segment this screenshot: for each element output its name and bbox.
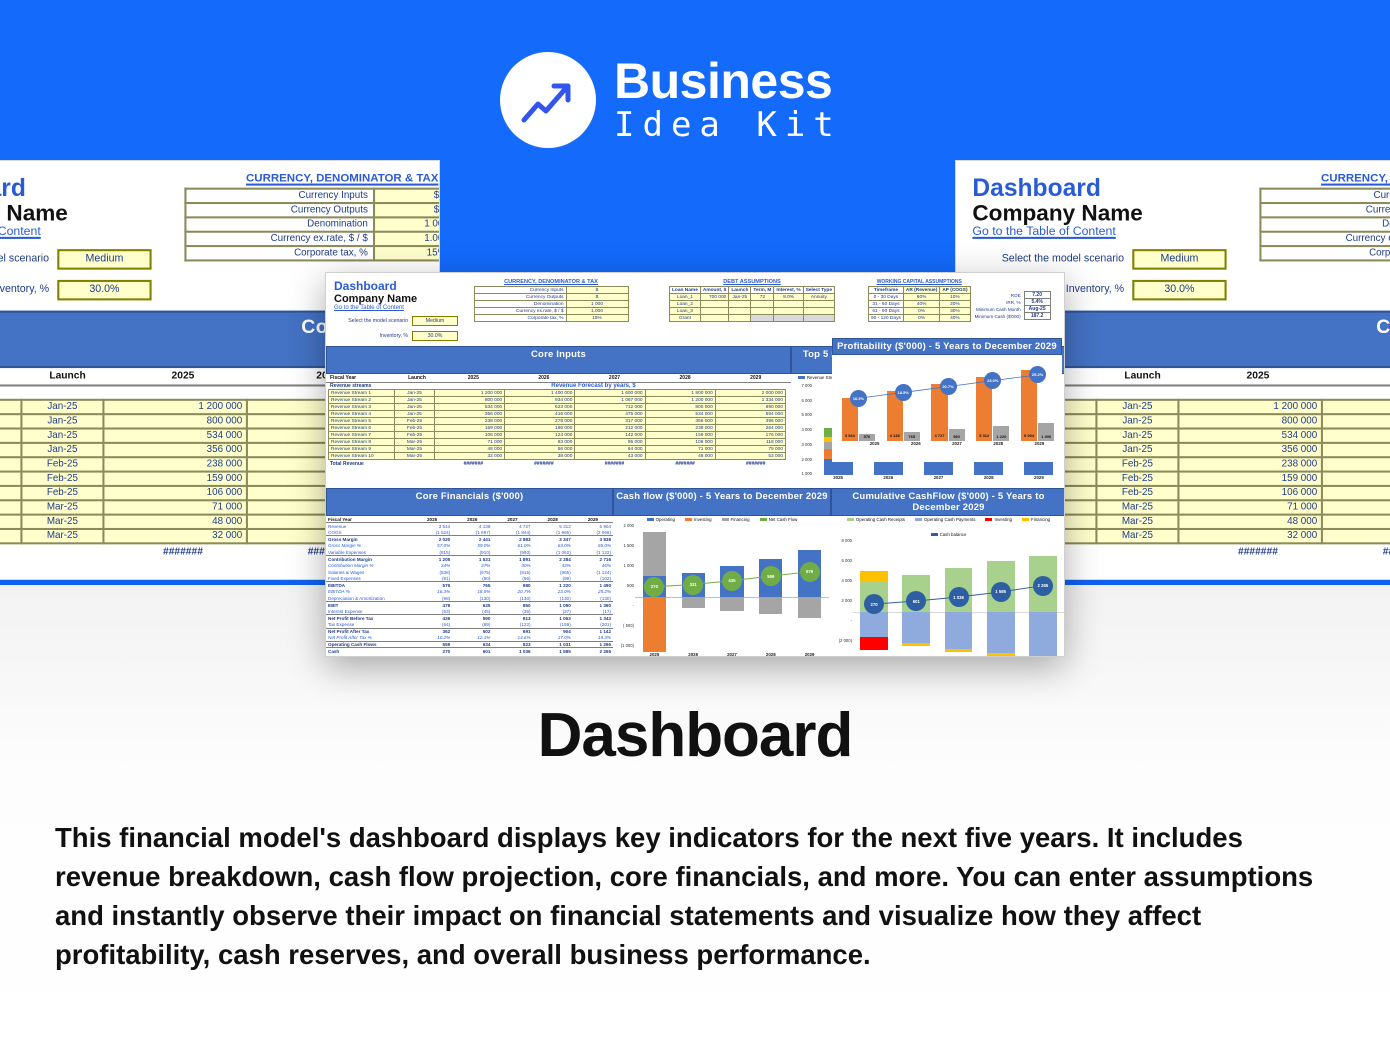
stream-name[interactable]: Revenue Stream 1: [329, 390, 395, 397]
stream-value[interactable]: 176 000: [715, 432, 785, 439]
cell[interactable]: [729, 301, 751, 308]
stream-launch[interactable]: Feb-25: [1096, 472, 1178, 486]
column-header: Timeframe: [869, 287, 904, 294]
cell[interactable]: [700, 308, 728, 315]
stream-name[interactable]: Revenue Stream 1: [0, 400, 21, 414]
revenue-forecast-table: Revenue Stream 1Jan-251 200 0001 400 000…: [328, 389, 786, 460]
cell-value[interactable]: 15%: [566, 315, 628, 322]
cell-label: Currency Outputs: [474, 294, 566, 301]
stream-value[interactable]: 1 334 000: [715, 397, 785, 404]
stream-launch[interactable]: Feb-25: [395, 425, 435, 432]
currency-panel-table: Currency Inputs$Currency Outputs$Denomin…: [183, 188, 440, 262]
table-row: Currency Outputs$: [474, 294, 628, 301]
inventory-label: Inventory, %: [334, 333, 408, 339]
stream-value[interactable]: 83 000: [505, 439, 575, 446]
stream-value[interactable]: 317 000: [575, 418, 645, 425]
stream-value[interactable]: 800 000: [1178, 414, 1322, 428]
scenario-select[interactable]: Medium: [412, 316, 458, 326]
cell-value[interactable]: 1 000: [566, 301, 628, 308]
cell[interactable]: Loan_3: [670, 308, 701, 315]
stream-launch[interactable]: Mar-25: [1096, 500, 1178, 514]
stream-launch[interactable]: Mar-25: [1096, 529, 1178, 543]
revenue-forecast-title: Revenue Forecast by years, $: [396, 383, 791, 389]
table-row: Net Profit After Tax %10.2%12.1%14.6%17.…: [326, 635, 613, 642]
stream-launch[interactable]: Jan-25: [395, 404, 435, 411]
stream-value[interactable]: 38 000: [505, 453, 575, 460]
cell-value[interactable]: 15%: [373, 246, 440, 260]
table-row: Grant: [670, 315, 835, 322]
stream-value[interactable]: 32 000: [435, 453, 505, 460]
wc-panel-table: TimeframeAR (Revenue)AP (COGS) 0 - 30 Da…: [868, 286, 971, 322]
cell[interactable]: 30%: [940, 308, 970, 315]
stream-launch[interactable]: Mar-25: [395, 453, 435, 460]
stream-name[interactable]: Revenue Stream 2: [0, 414, 21, 428]
currency-panel-title: CURRENCY, DENOMINATOR & TAX: [1243, 173, 1390, 185]
stream-name[interactable]: Revenue Stream 10: [329, 453, 395, 460]
cell[interactable]: 0 - 30 Days: [869, 294, 904, 301]
kpi-row: Minimum Cash MonthAug-25: [975, 306, 1051, 313]
page-title: Dashboard: [0, 700, 1390, 771]
row-value: 1 490: [573, 582, 613, 589]
y-tick: 1 000: [802, 471, 812, 476]
stream-name[interactable]: Revenue Stream 3: [329, 404, 395, 411]
row-value: (130): [573, 595, 613, 602]
stream-name[interactable]: Revenue Stream 7: [0, 486, 21, 500]
stream-launch[interactable]: Mar-25: [1096, 515, 1178, 529]
kpi-label: Minimum Cash Month: [975, 306, 1025, 313]
net-cash-flow-bubble: 559: [761, 566, 781, 586]
row-label: Operating Cash Flows: [326, 641, 412, 648]
stream-name[interactable]: Revenue Stream 9: [0, 515, 21, 529]
stream-launch[interactable]: Feb-25: [1096, 457, 1178, 471]
cell-label: Denomination: [1259, 217, 1390, 231]
row-value: (130): [533, 595, 573, 602]
stream-value[interactable]: 623 000: [1322, 429, 1390, 443]
stream-value[interactable]: 1 400 000: [505, 390, 575, 397]
x-tick: 2025: [813, 475, 863, 486]
stream-value[interactable]: 934 000: [505, 397, 575, 404]
cash-balance-bubble: 2 265: [1033, 576, 1053, 596]
cell[interactable]: 0%: [903, 315, 939, 322]
stream-name[interactable]: Revenue Stream 6: [0, 472, 21, 486]
stream-value[interactable]: 1 200 000: [103, 400, 247, 414]
stream-launch[interactable]: Feb-25: [21, 486, 103, 500]
total-value: #######: [1330, 546, 1390, 558]
stream-value[interactable]: 534 000: [1178, 429, 1322, 443]
table-row: Currency Inputs$: [1259, 189, 1390, 203]
row-value: 2 716: [573, 556, 613, 563]
stream-value[interactable]: 48 000: [435, 446, 505, 453]
stream-value[interactable]: 475 000: [575, 411, 645, 418]
x-axis: 20252026202720282029: [813, 475, 1064, 486]
kpi-value: 5.4%: [1024, 299, 1050, 306]
cell[interactable]: 700 000: [700, 294, 728, 301]
stream-launch[interactable]: Jan-25: [1096, 443, 1178, 457]
table-row: Revenue Stream 2Jan-25800 000934 0001 06…: [329, 397, 786, 404]
x-tick: 2027: [913, 475, 963, 486]
column-header: AR (Revenue): [903, 287, 939, 294]
stream-value[interactable]: 1 200 000: [645, 397, 715, 404]
stream-value[interactable]: 212 000: [575, 425, 645, 432]
stream-launch[interactable]: Jan-25: [395, 390, 435, 397]
stream-value[interactable]: 800 000: [103, 414, 247, 428]
stream-value[interactable]: 356 000: [103, 443, 247, 457]
stream-value[interactable]: 534 000: [103, 429, 247, 443]
x-tick: 2026: [895, 441, 936, 452]
brand-logo: Business Idea Kit: [500, 52, 842, 148]
row-value: 904: [533, 628, 573, 635]
stream-launch[interactable]: Feb-25: [1096, 486, 1178, 500]
legend-item: Financing: [722, 517, 750, 522]
legend-item: Operating Cash Payments: [915, 517, 976, 522]
row-value: 34%: [412, 562, 452, 569]
stream-launch[interactable]: Jan-25: [21, 414, 103, 428]
stream-value[interactable]: 71 000: [103, 500, 247, 514]
stream-value[interactable]: 83 000: [1322, 500, 1390, 514]
scenario-select[interactable]: Medium: [1132, 249, 1226, 270]
cell[interactable]: [700, 315, 728, 322]
row-value: (965): [533, 569, 573, 576]
stream-value[interactable]: 106 000: [645, 439, 715, 446]
row-value: 1 585: [533, 648, 573, 655]
cell-label: Corporate tax, %: [1259, 246, 1390, 260]
y-tick: -: [633, 603, 634, 608]
table-row: EBIT4786358501 0901 360: [326, 602, 613, 609]
stream-name[interactable]: Revenue Stream 10: [0, 529, 21, 543]
row-label: Revenue: [326, 523, 412, 530]
stream-value[interactable]: 1 800 000: [645, 390, 715, 397]
cell[interactable]: [774, 308, 803, 315]
table-row: Variable Expenses(815)(910)(993)(1 062)(…: [326, 549, 613, 556]
stream-launch[interactable]: Jan-25: [395, 411, 435, 418]
row-value: 478: [412, 602, 452, 609]
stream-value[interactable]: 238 000: [103, 457, 247, 471]
cell[interactable]: Loan_2: [670, 301, 701, 308]
stream-value[interactable]: 356 000: [645, 418, 715, 425]
stream-value[interactable]: 53 000: [715, 453, 785, 460]
stream-launch[interactable]: Jan-25: [395, 397, 435, 404]
row-value: (27): [533, 608, 573, 615]
legend-item: Investing: [985, 517, 1012, 522]
cell[interactable]: Loan_1: [670, 294, 701, 301]
cell[interactable]: 40%: [940, 315, 970, 322]
stream-name[interactable]: Revenue Stream 8: [329, 439, 395, 446]
stream-launch[interactable]: Mar-25: [21, 500, 103, 514]
inventory-label: Inventory, %: [0, 284, 49, 296]
cell-value[interactable]: $: [373, 189, 440, 203]
stream-value[interactable]: 32 000: [1178, 529, 1322, 543]
table-row: Revenue Stream 9Mar-2548 00056 00064 000…: [329, 446, 786, 453]
cell[interactable]: 31 - 60 Days: [869, 301, 904, 308]
stream-launch[interactable]: Feb-25: [21, 457, 103, 471]
stream-value[interactable]: 712 000: [575, 404, 645, 411]
row-value: (159): [533, 622, 573, 629]
inventory-input[interactable]: 30.0%: [57, 280, 151, 301]
row-value: 46%: [573, 562, 613, 569]
cell[interactable]: Grant: [670, 315, 701, 322]
cell-label: Currency Inputs: [1259, 189, 1390, 203]
row-value: 1 142: [573, 628, 613, 635]
cell-value[interactable]: 1.000: [373, 232, 440, 246]
dashboard-heading: Dashboard: [0, 173, 152, 202]
row-value: (91): [412, 575, 452, 582]
table-of-content-link[interactable]: Go to the Table of Content: [0, 227, 152, 239]
stream-value[interactable]: 890 000: [715, 404, 785, 411]
cell-value[interactable]: $: [373, 203, 440, 217]
stream-value[interactable]: 159 000: [435, 425, 505, 432]
row-value: (815): [412, 549, 452, 556]
stream-value[interactable]: 159 000: [103, 472, 247, 486]
stream-value[interactable]: 356 000: [435, 411, 505, 418]
stream-value[interactable]: 1 200 000: [1178, 400, 1322, 414]
cell[interactable]: [751, 308, 774, 315]
cell[interactable]: 60%: [903, 294, 939, 301]
total-value: #######: [720, 461, 791, 467]
table-row: EBITDA %16.3%18.5%20.7%23.0%25.2%: [326, 589, 613, 596]
cell[interactable]: 90 - 120 Days: [869, 315, 904, 322]
stream-name[interactable]: Revenue Stream 5: [0, 457, 21, 471]
stream-value[interactable]: 71 000: [645, 446, 715, 453]
cell-value[interactable]: $: [566, 287, 628, 294]
stream-name[interactable]: Revenue Stream 5: [329, 418, 395, 425]
table-row: Denomination1 000: [1259, 217, 1390, 231]
stream-value[interactable]: 43 000: [575, 453, 645, 460]
table-of-content-link[interactable]: Go to the Table of Content: [972, 227, 1226, 239]
cell[interactable]: [803, 308, 834, 315]
row-value: 850: [492, 602, 532, 609]
inventory-input[interactable]: 30.0%: [412, 331, 458, 341]
stream-value[interactable]: 124 000: [505, 432, 575, 439]
stream-launch[interactable]: Mar-25: [395, 439, 435, 446]
stream-value[interactable]: 238 000: [1178, 457, 1322, 471]
row-label: Contribution Margin %: [326, 562, 412, 569]
row-value: 5 904: [573, 523, 613, 530]
table-row: 0 - 30 Days60%10%: [869, 294, 971, 301]
cell-value[interactable]: 1 000: [373, 217, 440, 231]
stream-value[interactable]: 71 000: [1178, 500, 1322, 514]
cell[interactable]: 10%: [940, 294, 970, 301]
stream-name[interactable]: Revenue Stream 8: [0, 500, 21, 514]
stream-value[interactable]: 56 000: [1322, 515, 1390, 529]
stream-value[interactable]: 124 000: [1322, 486, 1390, 500]
stream-name[interactable]: Revenue Stream 4: [0, 443, 21, 457]
cell[interactable]: 20%: [940, 301, 970, 308]
row-value: (1 844): [492, 529, 532, 536]
row-value: 362: [412, 628, 452, 635]
ebitda-pct-bubble: 18.5%: [895, 384, 912, 401]
stream-value[interactable]: 238 000: [435, 418, 505, 425]
stream-value[interactable]: 2 000 000: [715, 390, 785, 397]
row-value: (90): [452, 575, 492, 582]
stream-value[interactable]: 48 000: [645, 453, 715, 460]
stream-value[interactable]: 594 000: [715, 411, 785, 418]
stream-value[interactable]: 106 000: [1178, 486, 1322, 500]
y-tick: 6 000: [842, 558, 852, 563]
table-row: Revenue Stream 8Mar-2571 00083 00095 000…: [329, 439, 786, 446]
table-row: Revenue Stream 10Mar-2532 00038 00043 00…: [329, 453, 786, 460]
profitability-chart-title: Profitability ($'000) - 5 Years to Decem…: [832, 338, 1062, 355]
stream-name[interactable]: Revenue Stream 7: [329, 432, 395, 439]
stream-name[interactable]: Revenue Stream 2: [329, 397, 395, 404]
stream-value[interactable]: 142 000: [575, 432, 645, 439]
cashflow-chart-title: Cash flow ($'000) - 5 Years to December …: [613, 488, 831, 516]
stream-value[interactable]: 1 600 000: [575, 390, 645, 397]
cell[interactable]: 72: [751, 294, 774, 301]
year-header: 2026: [1330, 370, 1390, 382]
cell[interactable]: [751, 301, 774, 308]
fiscal-year-label: Fiscal Year: [0, 370, 25, 382]
year-header: 2028: [533, 516, 573, 523]
cell-label: Corporate tax, %: [184, 246, 373, 260]
row-value: 1 531: [452, 556, 492, 563]
scenario-select[interactable]: Medium: [57, 249, 151, 270]
year-header: 2025: [111, 370, 256, 382]
stream-launch[interactable]: Mar-25: [395, 446, 435, 453]
y-tick: 5 000: [802, 412, 812, 417]
table-row: Loan_2: [670, 301, 835, 308]
cell[interactable]: [729, 308, 751, 315]
table-row: Gross Margin %57.0%59.0%61.0%63.0%65.0%: [326, 542, 613, 549]
stream-launch[interactable]: Jan-25: [21, 429, 103, 443]
stream-value[interactable]: 106 000: [103, 486, 247, 500]
cell[interactable]: [751, 315, 774, 322]
x-tick: 2025: [635, 652, 674, 657]
stream-value[interactable]: 38 000: [1322, 529, 1390, 543]
stream-launch[interactable]: Jan-25: [1096, 414, 1178, 428]
stream-value[interactable]: 64 000: [575, 446, 645, 453]
stream-name[interactable]: Revenue Stream 3: [0, 429, 21, 443]
table-row: Tax Expense(64)(89)(122)(159)(201): [326, 622, 613, 629]
stream-launch[interactable]: Jan-25: [21, 443, 103, 457]
cell[interactable]: [729, 315, 751, 322]
row-value: 17.0%: [533, 635, 573, 642]
cumulative-legend: Operating Cash ReceiptsOperating Cash Pa…: [831, 516, 1065, 538]
stream-value[interactable]: 534 000: [645, 411, 715, 418]
scenario-label: Select the model scenario: [972, 253, 1124, 265]
table-of-content-link[interactable]: Go to the Table of Content: [334, 305, 458, 311]
stream-value[interactable]: 79 000: [715, 446, 785, 453]
stream-name[interactable]: Revenue Stream 9: [329, 446, 395, 453]
stream-value[interactable]: 800 000: [645, 404, 715, 411]
stream-value[interactable]: 416 000: [505, 411, 575, 418]
stream-value[interactable]: 118 000: [715, 439, 785, 446]
cell[interactable]: Annuity: [803, 294, 834, 301]
cell[interactable]: 0%: [903, 308, 939, 315]
row-value: (1 122): [573, 549, 613, 556]
stream-value[interactable]: 32 000: [103, 529, 247, 543]
row-value: 20.7%: [492, 589, 532, 596]
row-value: 3 544: [412, 523, 452, 530]
cell[interactable]: 8.0%: [774, 294, 803, 301]
stream-value[interactable]: 534 000: [435, 404, 505, 411]
stream-value[interactable]: 416 000: [1322, 443, 1390, 457]
stream-value[interactable]: 1 400 000: [1322, 400, 1390, 414]
cell[interactable]: 61 - 90 Days: [869, 308, 904, 315]
row-value: 1 360: [573, 602, 613, 609]
row-label: Net Profit After Tax: [326, 628, 412, 635]
stream-value[interactable]: 186 000: [1322, 472, 1390, 486]
y-tick: (2 000): [839, 638, 852, 643]
stream-launch[interactable]: Jan-25: [21, 400, 103, 414]
cell[interactable]: [803, 315, 834, 322]
year-header: 2026: [452, 516, 492, 523]
row-label: Gross Margin: [326, 536, 412, 543]
cell[interactable]: [803, 301, 834, 308]
stream-value[interactable]: 264 000: [715, 425, 785, 432]
stream-value[interactable]: 356 000: [1178, 443, 1322, 457]
row-value: (1 965): [533, 529, 573, 536]
cell-value[interactable]: $: [566, 294, 628, 301]
stream-launch[interactable]: Mar-25: [21, 515, 103, 529]
stream-launch[interactable]: Feb-25: [21, 472, 103, 486]
table-row: 90 - 120 Days0%40%: [869, 315, 971, 322]
row-value: 2 441: [452, 536, 492, 543]
stream-value[interactable]: 238 000: [645, 425, 715, 432]
stream-value[interactable]: 159 000: [645, 432, 715, 439]
stream-launch[interactable]: Feb-25: [395, 418, 435, 425]
cell[interactable]: [774, 315, 803, 322]
cash-balance-bubble: 1 585: [991, 582, 1011, 602]
row-label: Salaries & Wages: [326, 569, 412, 576]
stream-launch[interactable]: Jan-25: [1096, 400, 1178, 414]
total-revenue-label: Total Revenue: [0, 546, 25, 558]
stream-value[interactable]: 800 000: [435, 397, 505, 404]
stream-value[interactable]: 48 000: [103, 515, 247, 529]
row-value: 1 031: [533, 641, 573, 648]
company-name: Company Name: [334, 293, 458, 305]
cell-value[interactable]: 1.000: [566, 308, 628, 315]
stream-value[interactable]: 396 000: [715, 418, 785, 425]
stream-value[interactable]: 278 000: [505, 418, 575, 425]
stream-launch[interactable]: Jan-25: [1096, 429, 1178, 443]
stream-value[interactable]: 56 000: [505, 446, 575, 453]
cell[interactable]: [774, 301, 803, 308]
row-value: 14.6%: [492, 635, 532, 642]
stream-value[interactable]: 278 000: [1322, 457, 1390, 471]
row-value: (1 697): [452, 529, 492, 536]
cell[interactable]: [700, 301, 728, 308]
currency-panel-title: CURRENCY, DENOMINATOR & TAX: [466, 279, 636, 285]
x-axis: 20252026202720282029: [854, 441, 1060, 452]
cell[interactable]: Jan-25: [729, 294, 751, 301]
stream-value[interactable]: 106 000: [435, 432, 505, 439]
stream-value[interactable]: 1 200 000: [435, 390, 505, 397]
page-description: This financial model's dashboard display…: [55, 818, 1345, 974]
stream-value[interactable]: 623 000: [505, 404, 575, 411]
dashboard-screenshot-main: Dashboard Company Name Go to the Table o…: [325, 272, 1065, 657]
stream-value[interactable]: 934 000: [1322, 414, 1390, 428]
row-value: (53): [412, 608, 452, 615]
row-value: 634: [452, 641, 492, 648]
stream-value[interactable]: 186 000: [505, 425, 575, 432]
inventory-input[interactable]: 30.0%: [1132, 280, 1226, 301]
cell[interactable]: 40%: [903, 301, 939, 308]
total-value: #######: [650, 461, 721, 467]
row-value: (993): [492, 549, 532, 556]
stream-value[interactable]: 159 000: [1178, 472, 1322, 486]
stream-value[interactable]: 71 000: [435, 439, 505, 446]
stream-value[interactable]: 1 067 000: [575, 397, 645, 404]
stream-value[interactable]: 95 000: [575, 439, 645, 446]
stream-name[interactable]: Revenue Stream 6: [329, 425, 395, 432]
net-cash-flow-bubble: 435: [722, 571, 742, 591]
row-value: (130): [452, 595, 492, 602]
stream-value[interactable]: 48 000: [1178, 515, 1322, 529]
stream-launch[interactable]: Mar-25: [21, 529, 103, 543]
stream-launch[interactable]: Feb-25: [395, 432, 435, 439]
stream-name[interactable]: Revenue Stream 4: [329, 411, 395, 418]
year-header: 2029: [720, 375, 791, 381]
